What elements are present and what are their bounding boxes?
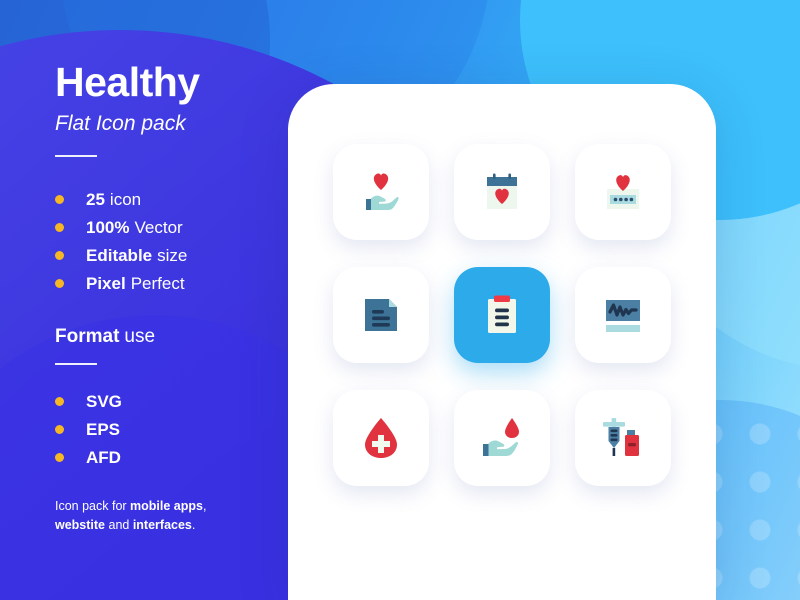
format-list: SVG EPS AFD — [55, 387, 290, 471]
format-divider — [55, 363, 97, 365]
feature-list: 25 icon 100% Vector Editable size Pixel — [55, 185, 290, 297]
icon-tile-heart-monitor[interactable] — [575, 144, 671, 240]
icon-tile-hand-holding-heart[interactable] — [333, 144, 429, 240]
icon-tile-syringe-vial[interactable] — [575, 390, 671, 486]
footnote-bold3: interfaces — [133, 518, 192, 532]
footnote-part4: . — [192, 518, 195, 532]
blood-drop-cross-icon — [353, 410, 409, 466]
footnote: Icon pack for mobile apps, webstite and … — [55, 497, 255, 536]
footnote-bold1: mobile apps — [130, 499, 203, 513]
list-item: 100% Vector — [55, 213, 290, 241]
icon-tile-clipboard[interactable] — [454, 267, 550, 363]
icon-tile-blood-drop-cross[interactable] — [333, 390, 429, 486]
format-label: EPS — [86, 421, 120, 438]
format-heading-light: use — [124, 326, 155, 347]
bullet-dot-icon — [55, 397, 64, 406]
format-label: AFD — [86, 449, 121, 466]
footnote-part3: and — [105, 518, 133, 532]
list-item: Editable size — [55, 241, 290, 269]
list-item: SVG — [55, 387, 290, 415]
icon-showcase-card — [288, 84, 716, 600]
icon-tile-calendar-heart[interactable] — [454, 144, 550, 240]
footnote-part2: , — [203, 499, 206, 513]
icon-grid — [288, 84, 716, 486]
heart-monitor-icon — [595, 164, 651, 220]
bullet-dot-icon — [55, 453, 64, 462]
page-title: Healthy — [55, 62, 290, 103]
hand-holding-heart-icon — [353, 164, 409, 220]
ecg-monitor-icon — [595, 287, 651, 343]
page-subtitle: Flat Icon pack — [55, 112, 290, 135]
list-item: AFD — [55, 443, 290, 471]
feature-strong: Editable — [86, 247, 152, 264]
icon-tile-hand-blood-drop[interactable] — [454, 390, 550, 486]
feature-strong: 100% — [86, 219, 129, 236]
bullet-dot-icon — [55, 195, 64, 204]
feature-light: Perfect — [131, 275, 185, 292]
syringe-vial-icon — [595, 410, 651, 466]
feature-strong: Pixel — [86, 275, 126, 292]
bullet-dot-icon — [55, 279, 64, 288]
title-divider — [55, 155, 97, 157]
icon-tile-ecg-monitor[interactable] — [575, 267, 671, 363]
calendar-heart-icon — [474, 164, 530, 220]
info-panel: Healthy Flat Icon pack 25 icon 100% Vect… — [0, 0, 290, 600]
bullet-dot-icon — [55, 251, 64, 260]
feature-light: size — [157, 247, 187, 264]
format-heading-strong: Format — [55, 326, 119, 347]
footnote-part1: Icon pack for — [55, 499, 130, 513]
feature-light: Vector — [134, 219, 182, 236]
document-icon — [353, 287, 409, 343]
format-heading: Formatuse — [55, 327, 290, 346]
bullet-dot-icon — [55, 223, 64, 232]
list-item: EPS — [55, 415, 290, 443]
bullet-dot-icon — [55, 425, 64, 434]
footnote-bold2: webstite — [55, 518, 105, 532]
feature-strong: 25 — [86, 191, 105, 208]
icon-tile-document[interactable] — [333, 267, 429, 363]
clipboard-icon — [474, 287, 530, 343]
format-label: SVG — [86, 393, 122, 410]
hand-blood-drop-icon — [474, 410, 530, 466]
list-item: Pixel Perfect — [55, 269, 290, 297]
poster-canvas: Healthy Flat Icon pack 25 icon 100% Vect… — [0, 0, 800, 600]
feature-light: icon — [110, 191, 141, 208]
list-item: 25 icon — [55, 185, 290, 213]
